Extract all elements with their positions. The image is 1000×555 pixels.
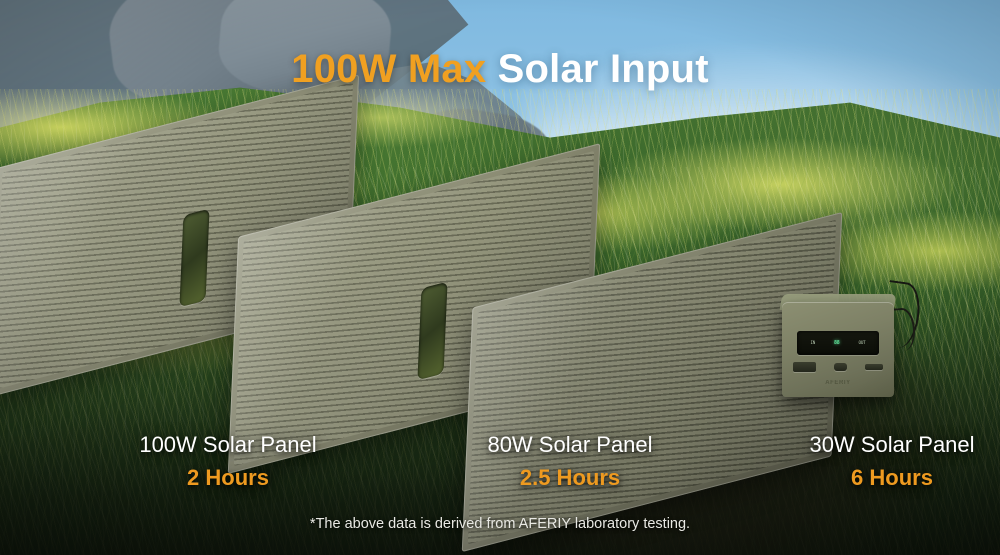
station-body: IN 88 OUT AFERIY xyxy=(782,302,894,396)
page-title: 100W Max Solar Input xyxy=(0,47,1000,92)
title-highlight: 100W Max xyxy=(291,47,486,91)
display-battery-value: 88 xyxy=(834,341,840,346)
caption-name: 30W Solar Panel xyxy=(742,432,1000,458)
station-display: IN 88 OUT xyxy=(797,331,880,356)
station-ports xyxy=(793,362,883,372)
marketing-banner: IN 88 OUT AFERIY 100W Max Solar Input 10… xyxy=(0,0,1000,555)
station-brand-logo: AFERIY xyxy=(782,380,894,386)
usb-c-port xyxy=(834,363,847,370)
title-rest: Solar Input xyxy=(486,47,708,91)
panel-handle-slot-1 xyxy=(179,208,209,306)
ac-port xyxy=(793,362,816,372)
caption-name: 80W Solar Panel xyxy=(420,432,720,458)
footnote-disclaimer: *The above data is derived from AFERIY l… xyxy=(0,516,1000,532)
caption-30w: 30W Solar Panel 6 Hours xyxy=(742,432,1000,491)
display-input-value: IN xyxy=(810,341,815,345)
power-station: IN 88 OUT AFERIY xyxy=(782,302,894,396)
caption-time: 2.5 Hours xyxy=(420,465,720,491)
caption-name: 100W Solar Panel xyxy=(78,432,378,458)
caption-time: 2 Hours xyxy=(78,465,378,491)
display-output-value: OUT xyxy=(859,341,866,345)
caption-time: 6 Hours xyxy=(742,465,1000,491)
caption-100w: 100W Solar Panel 2 Hours xyxy=(78,432,378,491)
caption-80w: 80W Solar Panel 2.5 Hours xyxy=(420,432,720,491)
usb-a-port xyxy=(865,364,883,371)
panel-handle-slot-2 xyxy=(417,282,447,380)
